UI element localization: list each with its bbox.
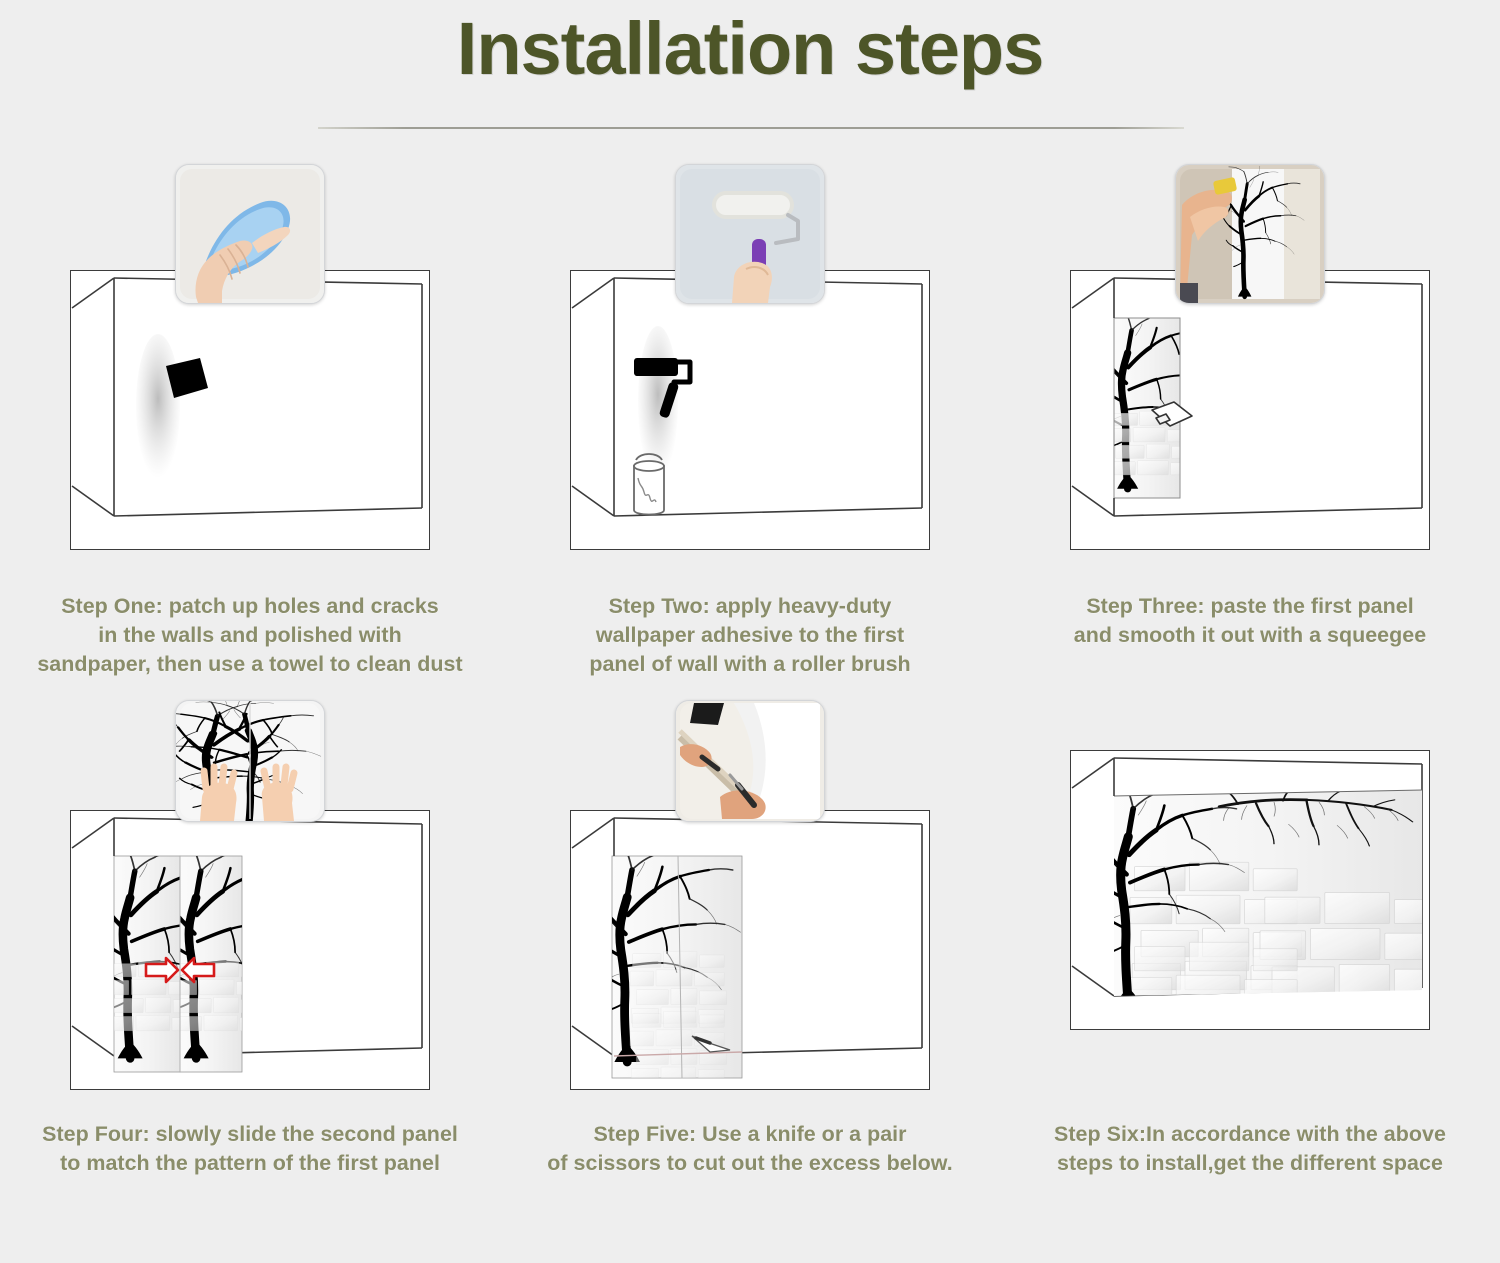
step-one-photo-thumb [175, 164, 325, 304]
infographic-page: Installation steps [0, 0, 1500, 1263]
step-four-caption: Step Four: slowly slide the second panel… [0, 1120, 500, 1178]
paint-bucket-icon [634, 454, 664, 515]
room-perspective-svg [70, 810, 430, 1090]
step-five-illustration [570, 810, 930, 1090]
step-four-illustration [70, 810, 430, 1090]
room-perspective-svg [1070, 270, 1430, 550]
wall-smudge [136, 334, 180, 478]
step-five-photo-thumb [675, 700, 825, 822]
step-one-illustration [70, 270, 430, 550]
step-two-photo-thumb [675, 164, 825, 304]
steps-grid: Step One: patch up holes and cracks in t… [0, 160, 1500, 1260]
step-card-one[interactable]: Step One: patch up holes and cracks in t… [0, 160, 500, 710]
page-title: Installation steps [0, 6, 1500, 91]
step-two-caption: Step Two: apply heavy-duty wallpaper adh… [500, 592, 1000, 679]
step-six-illustration [1070, 750, 1430, 1030]
step-card-two[interactable]: Step Two: apply heavy-duty wallpaper adh… [500, 160, 1000, 710]
room-perspective-svg [570, 810, 930, 1090]
title-divider [318, 127, 1184, 129]
room-perspective-svg [1070, 750, 1430, 1030]
step-one-caption: Step One: patch up holes and cracks in t… [0, 592, 500, 679]
steps-row-bottom: Step Four: slowly slide the second panel… [0, 710, 1500, 1260]
room-perspective-svg [70, 270, 430, 550]
step-five-caption: Step Five: Use a knife or a pair of scis… [500, 1120, 1000, 1178]
step-three-photo-thumb [1175, 164, 1325, 304]
step-card-five[interactable]: Step Five: Use a knife or a pair of scis… [500, 710, 1000, 1260]
step-card-three[interactable]: Step Three: paste the first panel and sm… [1000, 160, 1500, 710]
step-card-four[interactable]: Step Four: slowly slide the second panel… [0, 710, 500, 1260]
step-two-illustration [570, 270, 930, 550]
step-six-caption: Step Six:In accordance with the above st… [1000, 1120, 1500, 1178]
step-three-illustration [1070, 270, 1430, 550]
completed-mural [1084, 778, 1430, 1030]
steps-row-top: Step One: patch up holes and cracks in t… [0, 160, 1500, 710]
mural-panel-first [1092, 305, 1221, 498]
step-three-caption: Step Three: paste the first panel and sm… [1000, 592, 1500, 650]
step-four-photo-thumb [175, 700, 325, 822]
room-perspective-svg [570, 270, 930, 550]
step-card-six[interactable]: Step Six:In accordance with the above st… [1000, 710, 1500, 1260]
